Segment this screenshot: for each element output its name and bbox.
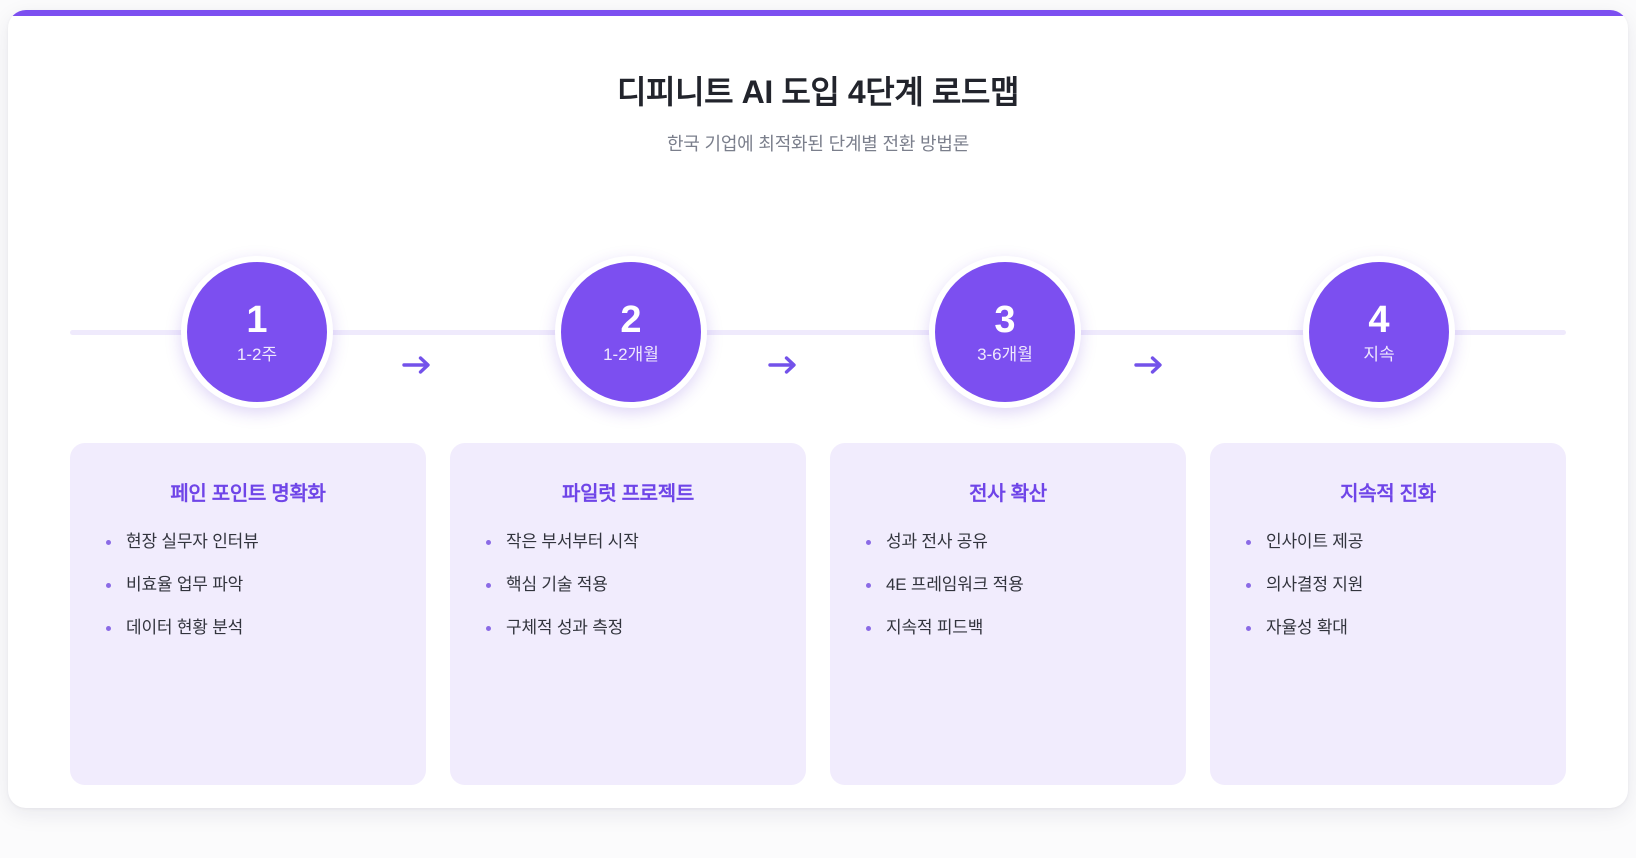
step-number: 3 [994, 301, 1015, 339]
page-title: 디피니트 AI 도입 4단계 로드맵 [8, 72, 1628, 112]
stage-card-3[interactable]: 전사 확산 성과 전사 공유 4E 프레임워크 적용 지속적 피드백 [830, 443, 1186, 785]
stage-card-title: 페인 포인트 명확화 [96, 477, 400, 506]
step-number: 1 [246, 301, 267, 339]
timeline-step-2[interactable]: 2 1-2개월 [444, 256, 818, 408]
timeline-steps: 1 1-2주 2 1-2개월 3 3-6개월 4 지속 [70, 246, 1566, 418]
step-duration: 1-2주 [237, 346, 277, 363]
arrow-right-icon [398, 351, 438, 379]
list-item: 의사결정 지원 [1238, 576, 1540, 593]
list-item: 인사이트 제공 [1238, 533, 1540, 550]
list-item: 4E 프레임워크 적용 [858, 576, 1160, 593]
list-item: 구체적 성과 측정 [478, 619, 780, 636]
timeline: 1 1-2주 2 1-2개월 3 3-6개월 4 지속 [70, 246, 1566, 418]
stage-card-list: 성과 전사 공유 4E 프레임워크 적용 지속적 피드백 [856, 533, 1160, 636]
stage-cards: 페인 포인트 명확화 현장 실무자 인터뷰 비효율 업무 파악 데이터 현황 분… [70, 443, 1566, 785]
arrow-right-icon [1130, 351, 1170, 379]
list-item: 핵심 기술 적용 [478, 576, 780, 593]
list-item: 성과 전사 공유 [858, 533, 1160, 550]
stage-card-4[interactable]: 지속적 진화 인사이트 제공 의사결정 지원 자율성 확대 [1210, 443, 1566, 785]
stage-card-list: 현장 실무자 인터뷰 비효율 업무 파악 데이터 현황 분석 [96, 533, 400, 636]
list-item: 현장 실무자 인터뷰 [98, 533, 400, 550]
step-number: 4 [1368, 301, 1389, 339]
timeline-step-4[interactable]: 4 지속 [1192, 256, 1566, 408]
step-circle-3[interactable]: 3 3-6개월 [929, 256, 1081, 408]
step-number: 2 [620, 301, 641, 339]
step-circle-4[interactable]: 4 지속 [1303, 256, 1455, 408]
roadmap-panel: 디피니트 AI 도입 4단계 로드맵 한국 기업에 최적화된 단계별 전환 방법… [8, 10, 1628, 808]
step-duration: 지속 [1363, 346, 1394, 363]
stage-card-list: 작은 부서부터 시작 핵심 기술 적용 구체적 성과 측정 [476, 533, 780, 636]
list-item: 자율성 확대 [1238, 619, 1540, 636]
list-item: 데이터 현황 분석 [98, 619, 400, 636]
step-circle-1[interactable]: 1 1-2주 [181, 256, 333, 408]
timeline-step-3[interactable]: 3 3-6개월 [818, 256, 1192, 408]
header: 디피니트 AI 도입 4단계 로드맵 한국 기업에 최적화된 단계별 전환 방법… [8, 72, 1628, 156]
list-item: 작은 부서부터 시작 [478, 533, 780, 550]
stage-card-title: 파일럿 프로젝트 [476, 477, 780, 506]
step-duration: 3-6개월 [977, 346, 1033, 363]
stage-card-list: 인사이트 제공 의사결정 지원 자율성 확대 [1236, 533, 1540, 636]
timeline-step-1[interactable]: 1 1-2주 [70, 256, 444, 408]
panel-top-accent-bar [8, 10, 1628, 16]
stage-card-2[interactable]: 파일럿 프로젝트 작은 부서부터 시작 핵심 기술 적용 구체적 성과 측정 [450, 443, 806, 785]
arrow-right-icon [764, 351, 804, 379]
step-duration: 1-2개월 [603, 346, 659, 363]
list-item: 비효율 업무 파악 [98, 576, 400, 593]
stage-card-1[interactable]: 페인 포인트 명확화 현장 실무자 인터뷰 비효율 업무 파악 데이터 현황 분… [70, 443, 426, 785]
stage-card-title: 전사 확산 [856, 477, 1160, 506]
step-circle-2[interactable]: 2 1-2개월 [555, 256, 707, 408]
list-item: 지속적 피드백 [858, 619, 1160, 636]
stage-card-title: 지속적 진화 [1236, 477, 1540, 506]
page-subtitle: 한국 기업에 최적화된 단계별 전환 방법론 [8, 130, 1628, 156]
